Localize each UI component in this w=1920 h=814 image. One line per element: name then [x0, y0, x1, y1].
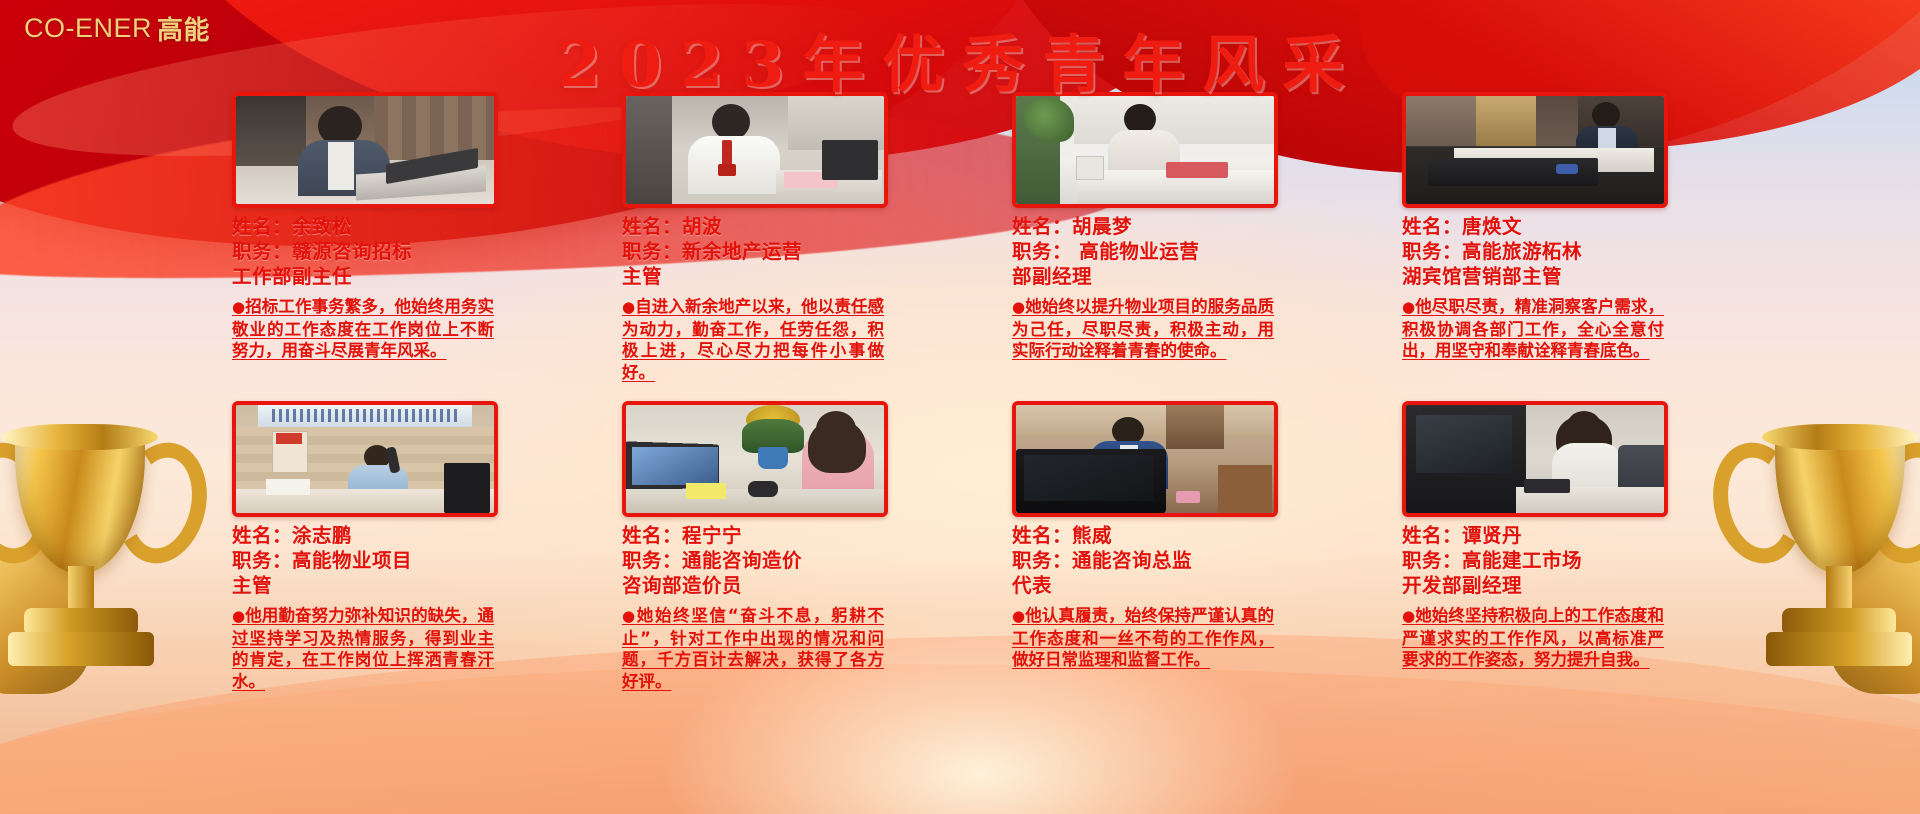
profile-meta: 姓名：谭贤丹 职务：高能建工市场 开发部副经理 — [1402, 523, 1702, 598]
profile-card: 姓名：胡波 职务：新余地产运营 主管 ●自进入新余地产以来，他以责任感为动力，勤… — [622, 92, 922, 383]
role-line-2: 湖宾馆营销部主管 — [1402, 264, 1702, 289]
bullet-icon: ● — [232, 607, 245, 625]
person-role-part1: 高能物业运营 — [1072, 240, 1199, 263]
profile-meta: 姓名：余致松 职务：赣源咨询招标 工作部副主任 — [232, 214, 532, 289]
profile-description: ●她始终坚信“奋斗不息，躬耕不止”，针对工作中出现的情况和问题，千方百计去解决，… — [622, 605, 884, 692]
description-text: 招标工作事务繁多，他始终用务实敬业的工作态度在工作岗位上不断努力，用奋斗尽展青年… — [232, 297, 494, 360]
person-role-part1: 通能咨询造价 — [682, 549, 802, 572]
profile-card: 姓名：余致松 职务：赣源咨询招标 工作部副主任 ●招标工作事务繁多，他始终用务实… — [232, 92, 532, 383]
profile-description: ●他认真履责，始终保持严谨认真的工作态度和一丝不苟的工作作风，做好日常监理和监督… — [1012, 605, 1274, 671]
role-label: 职务： — [1012, 240, 1072, 263]
name-label: 姓名： — [622, 524, 682, 547]
profile-card: 姓名：唐焕文 职务：高能旅游柘林 湖宾馆营销部主管 ●他尽职尽责，精准洞察客户需… — [1402, 92, 1702, 383]
profile-description: ●她始终以提升物业项目的服务品质为己任，尽职尽责，积极主动，用实际行动诠释着青春… — [1012, 296, 1274, 362]
name-line: 姓名：胡晨梦 — [1012, 214, 1312, 239]
role-label: 职务： — [622, 549, 682, 572]
role-line-1: 职务：高能旅游柘林 — [1402, 239, 1702, 264]
profile-meta: 姓名：程宁宁 职务：通能咨询造价 咨询部造价员 — [622, 523, 922, 598]
profile-description: ●招标工作事务繁多，他始终用务实敬业的工作态度在工作岗位上不断努力，用奋斗尽展青… — [232, 296, 494, 362]
role-line-2: 主管 — [622, 264, 922, 289]
name-label: 姓名： — [1012, 524, 1072, 547]
person-role-part1: 赣源咨询招标 — [292, 240, 412, 263]
role-line-1: 职务：通能咨询造价 — [622, 548, 922, 573]
profile-meta: 姓名：胡晨梦 职务： 高能物业运营 部副经理 — [1012, 214, 1312, 289]
description-text: 她始终坚持积极向上的工作态度和严谨求实的工作作风，以高标准严要求的工作姿态，努力… — [1402, 606, 1664, 669]
role-line-1: 职务： 高能物业运营 — [1012, 239, 1312, 264]
description-text: 她始终以提升物业项目的服务品质为己任，尽职尽责，积极主动，用实际行动诠释着青春的… — [1012, 297, 1274, 360]
name-line: 姓名：熊威 — [1012, 523, 1312, 548]
profile-meta: 姓名：涂志鹏 职务：高能物业项目 主管 — [232, 523, 532, 598]
role-label: 职务： — [232, 549, 292, 572]
name-line: 姓名：谭贤丹 — [1402, 523, 1702, 548]
name-label: 姓名： — [232, 215, 292, 238]
name-line: 姓名：程宁宁 — [622, 523, 922, 548]
profile-photo — [1402, 92, 1668, 208]
person-role-part1: 新余地产运营 — [682, 240, 802, 263]
bullet-icon: ● — [622, 298, 635, 316]
name-line: 姓名：唐焕文 — [1402, 214, 1702, 239]
bullet-icon: ● — [1012, 607, 1025, 625]
profile-description: ●他用勤奋努力弥补知识的缺失，通过坚持学习及热情服务，得到业主的肯定，在工作岗位… — [232, 605, 494, 692]
profile-description: ●他尽职尽责，精准洞察客户需求，积极协调各部门工作，全心全意付出，用坚守和奉献诠… — [1402, 296, 1664, 362]
role-line-2: 开发部副经理 — [1402, 573, 1702, 598]
name-label: 姓名： — [1012, 215, 1072, 238]
role-label: 职务： — [1402, 549, 1462, 572]
person-role-part1: 高能旅游柘林 — [1462, 240, 1582, 263]
profile-photo — [1402, 401, 1668, 517]
role-line-2: 工作部副主任 — [232, 264, 532, 289]
profile-card: 姓名：胡晨梦 职务： 高能物业运营 部副经理 ●她始终以提升物业项目的服务品质为… — [1012, 92, 1312, 383]
role-label: 职务： — [622, 240, 682, 263]
logo-mark-text: CO-ENER — [24, 13, 152, 44]
role-label: 职务： — [1402, 240, 1462, 263]
person-name: 唐焕文 — [1462, 215, 1522, 238]
person-role-part1: 高能物业项目 — [292, 549, 412, 572]
profile-meta: 姓名：胡波 职务：新余地产运营 主管 — [622, 214, 922, 289]
profile-photo — [232, 92, 498, 208]
role-line-2: 代表 — [1012, 573, 1312, 598]
profile-description: ●她始终坚持积极向上的工作态度和严谨求实的工作作风，以高标准严要求的工作姿态，努… — [1402, 605, 1664, 671]
profile-photo — [1012, 92, 1278, 208]
name-line: 姓名：胡波 — [622, 214, 922, 239]
role-line-2: 部副经理 — [1012, 264, 1312, 289]
company-logo: CO-ENER 高能 — [24, 10, 210, 47]
role-label: 职务： — [232, 240, 292, 263]
name-line: 姓名：涂志鹏 — [232, 523, 532, 548]
person-name: 胡波 — [682, 215, 722, 238]
bullet-icon: ● — [1402, 607, 1415, 625]
name-line: 姓名：余致松 — [232, 214, 532, 239]
name-label: 姓名： — [1402, 215, 1462, 238]
profile-description: ●自进入新余地产以来，他以责任感为动力，勤奋工作，任劳任怨，积极上进，尽心尽力把… — [622, 296, 884, 383]
profile-card: 姓名：程宁宁 职务：通能咨询造价 咨询部造价员 ●她始终坚信“奋斗不息，躬耕不止… — [622, 401, 922, 692]
profile-photo — [622, 401, 888, 517]
bullet-icon: ● — [1402, 298, 1415, 316]
profile-meta: 姓名：唐焕文 职务：高能旅游柘林 湖宾馆营销部主管 — [1402, 214, 1702, 289]
profile-card: 姓名：涂志鹏 职务：高能物业项目 主管 ●他用勤奋努力弥补知识的缺失，通过坚持学… — [232, 401, 532, 692]
description-text: 自进入新余地产以来，他以责任感为动力，勤奋工作，任劳任怨，积极上进，尽心尽力把每… — [622, 297, 884, 382]
role-line-1: 职务：新余地产运营 — [622, 239, 922, 264]
profile-grid: 姓名：余致松 职务：赣源咨询招标 工作部副主任 ●招标工作事务繁多，他始终用务实… — [232, 92, 1704, 692]
role-line-1: 职务：高能建工市场 — [1402, 548, 1702, 573]
person-name: 涂志鹏 — [292, 524, 352, 547]
person-name: 熊威 — [1072, 524, 1112, 547]
role-line-1: 职务：通能咨询总监 — [1012, 548, 1312, 573]
name-label: 姓名： — [232, 524, 292, 547]
page-title: 2023年优秀青年风采 — [0, 14, 1920, 104]
description-text: 他认真履责，始终保持严谨认真的工作态度和一丝不苟的工作作风，做好日常监理和监督工… — [1012, 606, 1274, 669]
profile-photo — [622, 92, 888, 208]
profile-photo — [1012, 401, 1278, 517]
description-text: 他尽职尽责，精准洞察客户需求，积极协调各部门工作，全心全意付出，用坚守和奉献诠释… — [1402, 297, 1664, 360]
role-line-2: 主管 — [232, 573, 532, 598]
person-name: 胡晨梦 — [1072, 215, 1132, 238]
person-name: 余致松 — [292, 215, 352, 238]
bullet-icon: ● — [232, 298, 245, 316]
role-line-1: 职务：赣源咨询招标 — [232, 239, 532, 264]
person-role-part1: 高能建工市场 — [1462, 549, 1582, 572]
description-text: 她始终坚信“奋斗不息，躬耕不止”，针对工作中出现的情况和问题，千方百计去解决，获… — [622, 606, 884, 691]
bullet-icon: ● — [622, 607, 637, 625]
name-label: 姓名： — [622, 215, 682, 238]
profile-card: 姓名：熊威 职务：通能咨询总监 代表 ●他认真履责，始终保持严谨认真的工作态度和… — [1012, 401, 1312, 692]
trophy-icon — [1730, 394, 1920, 724]
profile-photo — [232, 401, 498, 517]
logo-chinese-text: 高能 — [157, 10, 210, 47]
role-line-1: 职务：高能物业项目 — [232, 548, 532, 573]
role-label: 职务： — [1012, 549, 1072, 572]
person-name: 谭贤丹 — [1462, 524, 1522, 547]
bullet-icon: ● — [1012, 298, 1025, 316]
trophy-icon — [0, 394, 190, 724]
person-role-part1: 通能咨询总监 — [1072, 549, 1192, 572]
role-line-2: 咨询部造价员 — [622, 573, 922, 598]
profile-card: 姓名：谭贤丹 职务：高能建工市场 开发部副经理 ●她始终坚持积极向上的工作态度和… — [1402, 401, 1702, 692]
name-label: 姓名： — [1402, 524, 1462, 547]
description-text: 他用勤奋努力弥补知识的缺失，通过坚持学习及热情服务，得到业主的肯定，在工作岗位上… — [232, 606, 494, 691]
profile-meta: 姓名：熊威 职务：通能咨询总监 代表 — [1012, 523, 1312, 598]
person-name: 程宁宁 — [682, 524, 742, 547]
